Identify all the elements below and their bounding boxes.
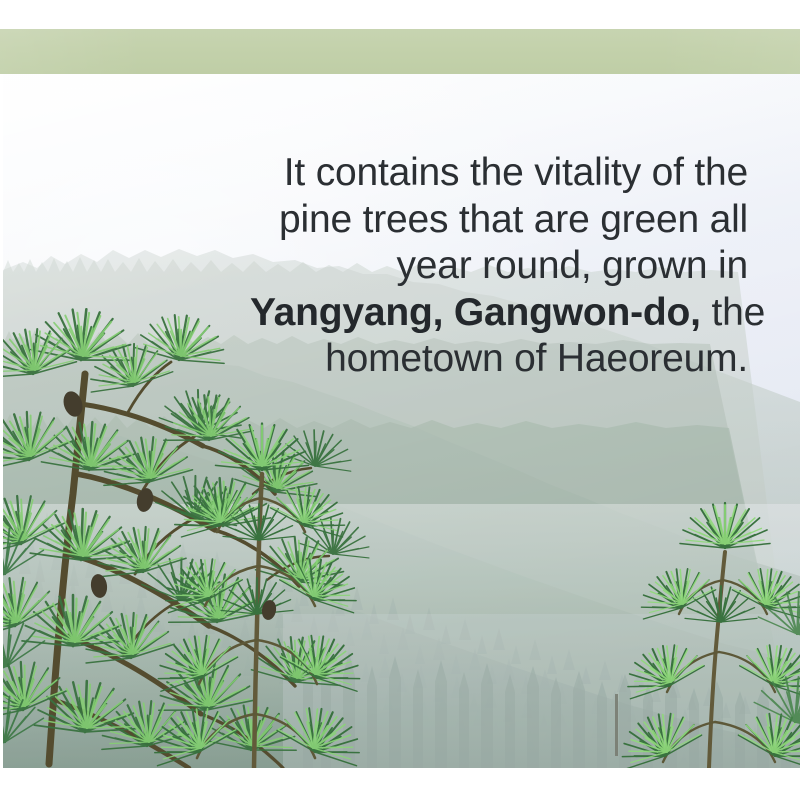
caption-line-4-tail: the [701, 291, 765, 334]
caption-line-5: hometown of Haeoreum. [250, 336, 748, 383]
caption-line-3: year round, grown in [250, 243, 748, 290]
caption-line-1: It contains the vitality of the [250, 150, 748, 197]
poster-root: It contains the vitality of the pine tre… [0, 0, 800, 800]
caption-line-2: pine trees that are green all [250, 197, 748, 244]
headline-caption: It contains the vitality of the pine tre… [250, 150, 748, 383]
accent-band [0, 29, 800, 74]
caption-line-4: Yangyang, Gangwon-do, the [250, 290, 748, 337]
caption-emphasis: Yangyang, Gangwon-do, [250, 291, 701, 334]
